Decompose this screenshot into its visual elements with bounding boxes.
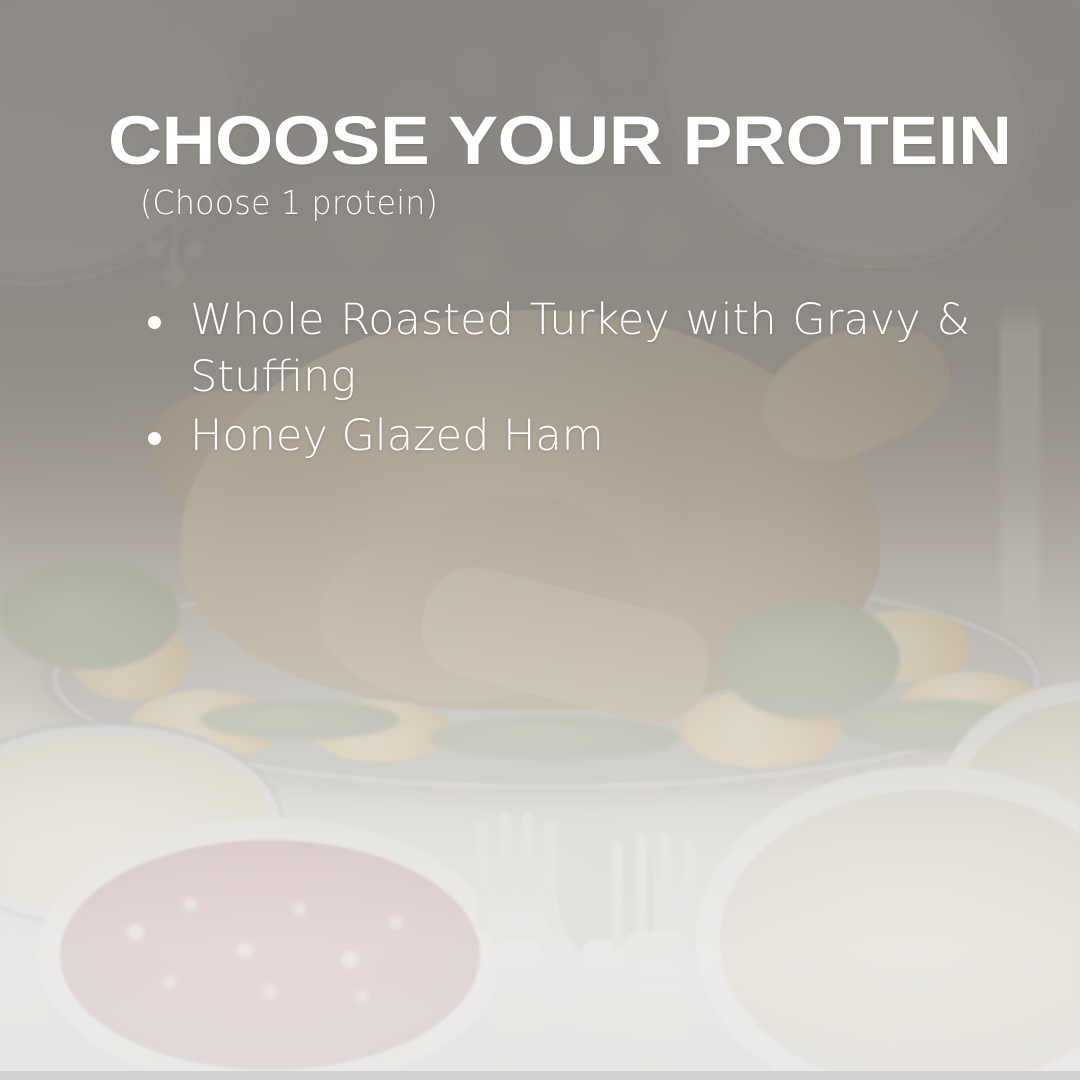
protein-selection-slide: CHOOSE YOUR PROTEIN (Choose 1 protein) W… [0,0,1080,1080]
slide-content: CHOOSE YOUR PROTEIN (Choose 1 protein) W… [0,0,1080,1080]
list-item[interactable]: Whole Roasted Turkey with Gravy & Stuffi… [140,292,970,406]
page-title: CHOOSE YOUR PROTEIN [108,106,1041,175]
page-subtitle: (Choose 1 protein) [140,185,438,221]
list-item[interactable]: Honey Glazed Ham [140,408,970,465]
protein-option-label: Whole Roasted Turkey with Gravy & Stuffi… [190,292,970,406]
protein-options-list: Whole Roasted Turkey with Gravy & Stuffi… [140,292,970,468]
protein-option-label: Honey Glazed Ham [190,408,970,465]
